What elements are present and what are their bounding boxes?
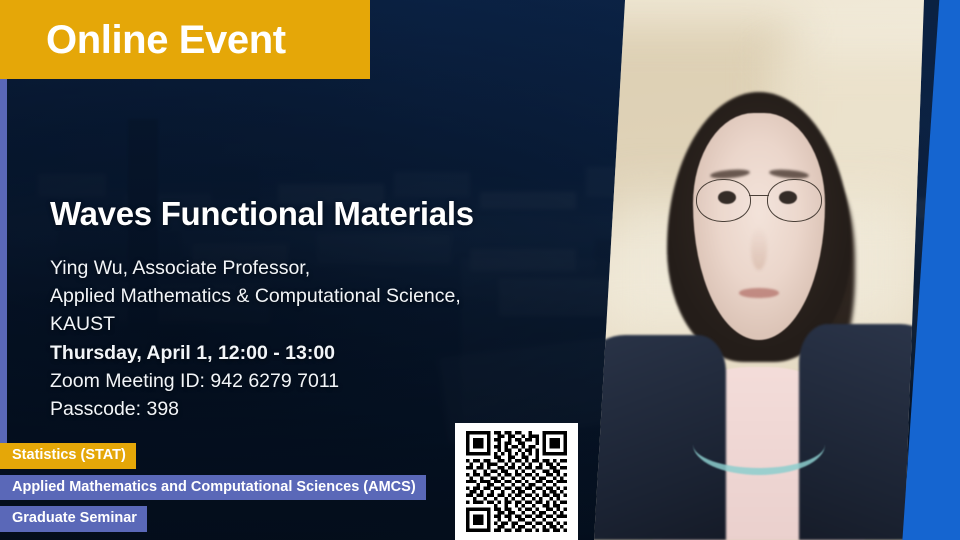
tag-amcs[interactable]: Applied Mathematics and Computational Sc…: [0, 475, 426, 501]
portrait-image: [594, 0, 924, 540]
passcode-line: Passcode: 398: [50, 395, 595, 423]
zoom-meeting-id-line: Zoom Meeting ID: 942 6279 7011: [50, 367, 595, 395]
portrait-glasses-lens-right: [767, 179, 822, 222]
affiliation-line: Applied Mathematics & Computational Scie…: [50, 282, 595, 310]
portrait-necklace: [693, 414, 825, 475]
datetime-line: Thursday, April 1, 12:00 - 13:00: [50, 339, 595, 367]
tag-graduate-seminar[interactable]: Graduate Seminar: [0, 506, 147, 532]
portrait-nose: [751, 227, 768, 270]
tag-statistics[interactable]: Statistics (STAT): [0, 443, 136, 469]
portrait-glasses-lens-left: [696, 179, 751, 222]
institution-line: KAUST: [50, 310, 595, 338]
event-info-block: Waves Functional Materials Ying Wu, Asso…: [50, 196, 595, 423]
category-tag-list: Statistics (STAT) Applied Mathematics an…: [0, 443, 426, 532]
event-title: Waves Functional Materials: [50, 196, 595, 232]
qr-code[interactable]: [455, 423, 578, 540]
event-poster: Online Event Waves Functional Materials …: [0, 0, 960, 540]
qr-code-image: [466, 431, 567, 532]
portrait-mouth: [739, 288, 779, 298]
online-event-banner: Online Event: [0, 0, 370, 79]
speaker-portrait: [594, 0, 924, 540]
portrait-glasses-bridge: [749, 195, 769, 197]
speaker-name-line: Ying Wu, Associate Professor,: [50, 254, 595, 282]
event-details: Ying Wu, Associate Professor, Applied Ma…: [50, 254, 595, 422]
left-accent-stripe: [0, 78, 7, 448]
banner-title: Online Event: [0, 20, 286, 60]
portrait-glasses: [696, 179, 821, 220]
